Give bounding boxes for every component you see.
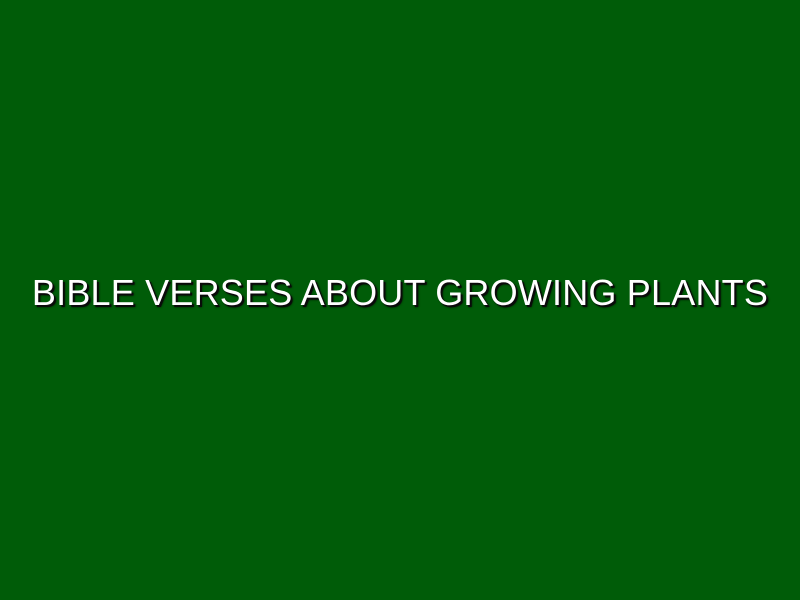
page-title: BIBLE VERSES ABOUT GROWING PLANTS: [32, 273, 768, 313]
title-container: BIBLE VERSES ABOUT GROWING PLANTS: [0, 273, 800, 313]
title-card: BIBLE VERSES ABOUT GROWING PLANTS: [0, 0, 800, 600]
